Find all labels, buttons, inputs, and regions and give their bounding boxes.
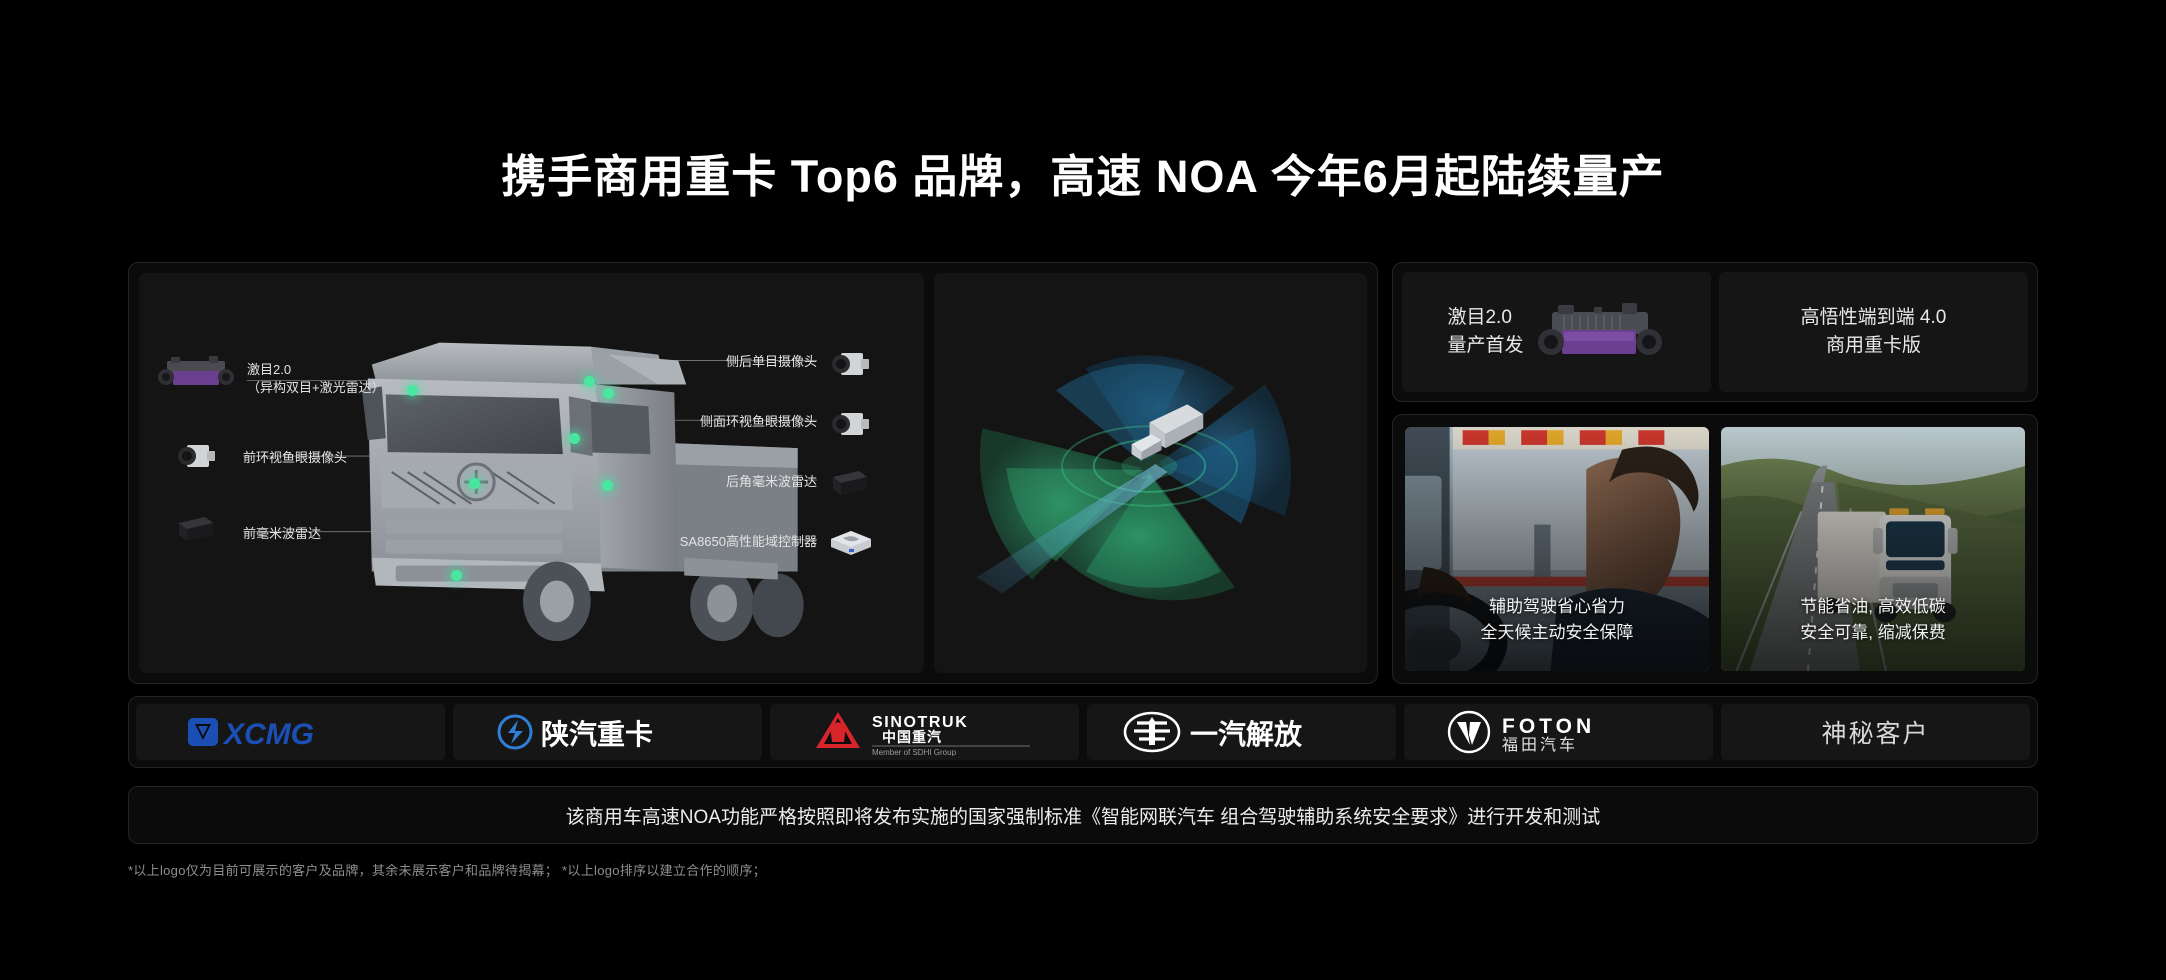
svg-text:福田汽车: 福田汽车: [1502, 736, 1578, 754]
logo-cell-mystery-customer[interactable]: 神秘客户: [1721, 704, 2030, 760]
xcmg-logo: XCMG: [186, 712, 396, 752]
product-card-lidar-text: 激目2.0 量产首发: [1447, 304, 1523, 359]
sensor-dot-side-fisheye: [569, 433, 580, 444]
truck-sensor-diagram: 激目2.0 （异构双目+激光雷达） 前环视鱼眼摄像头: [139, 273, 924, 673]
label-domain-controller: SA8650高性能域控制器: [597, 533, 817, 551]
partner-logo-row: XCMG 陕汽重卡 SINOTRUK 中国重汽 Member of SDHI G…: [128, 696, 2038, 768]
label-front-radar: 前毫米波雷达: [243, 525, 321, 543]
compliance-statement: 该商用车高速NOA功能严格按照即将发布实施的国家强制标准《智能网联汽车 组合驾驶…: [128, 786, 2038, 844]
sensor-dot-side-mono: [584, 376, 595, 387]
logo-cell-foton[interactable]: FOTON 福田汽车: [1404, 704, 1713, 760]
sinotruk-logo: SINOTRUK 中国重汽 Member of SDHI Group: [800, 708, 1050, 756]
photo-caption-highway: 节能省油, 高效低碳 安全可靠, 缩减保费: [1721, 594, 2025, 645]
photo-card-driver[interactable]: 辅助驾驶省心省力 全天候主动安全保障: [1405, 427, 1709, 671]
logo-footnote: *以上logo仅为目前可展示的客户及品牌，其余未展示客户和品牌待揭幕； *以上l…: [128, 860, 2038, 879]
label-rear-corner-radar: 后角毫米波雷达: [637, 473, 817, 491]
label-lidar-module: 激目2.0 （异构双目+激光雷达）: [247, 361, 385, 396]
svg-text:XCMG: XCMG: [222, 718, 314, 751]
sensor-dot-front-fisheye: [469, 478, 480, 489]
faw-logo: 一汽解放: [1122, 711, 1362, 753]
product-card-e2e-text: 高悟性端到端 4.0 商用重卡版: [1801, 304, 1947, 359]
lidar-camera-module-icon: [157, 355, 235, 389]
logo-cell-xcmg[interactable]: XCMG: [136, 704, 445, 760]
photo-card-highway[interactable]: 节能省油, 高效低碳 安全可靠, 缩减保费: [1721, 427, 2025, 671]
sensor-dot-rear-radar: [602, 480, 613, 491]
svg-text:Member of SDHI Group: Member of SDHI Group: [872, 748, 957, 756]
sensor-dot-windshield: [407, 385, 418, 396]
sensor-coverage-visualization: [934, 273, 1367, 673]
label-side-rear-mono: 侧后单目摄像头: [637, 353, 817, 371]
fisheye-camera-icon: [829, 409, 871, 439]
mono-camera-icon: [829, 349, 871, 379]
sensor-dot-front-radar: [451, 570, 462, 581]
logo-cell-shacman[interactable]: 陕汽重卡: [453, 704, 762, 760]
logo-cell-sinotruk[interactable]: SINOTRUK 中国重汽 Member of SDHI Group: [770, 704, 1079, 760]
main-content-row: 激目2.0 （异构双目+激光雷达） 前环视鱼眼摄像头: [128, 262, 2038, 684]
svg-text:一汽解放: 一汽解放: [1190, 718, 1303, 750]
radar-module-icon: [173, 513, 217, 545]
shacman-logo: 陕汽重卡: [493, 712, 723, 752]
svg-text:中国重汽: 中国重汽: [882, 729, 942, 745]
page-title: 携手商用重卡 Top6 品牌，高速 NOA 今年6月起陆续量产: [0, 140, 2166, 205]
mystery-customer-label: 神秘客户: [1821, 714, 1929, 750]
label-front-fisheye: 前环视鱼眼摄像头: [243, 449, 347, 467]
product-card-e2e[interactable]: 高悟性端到端 4.0 商用重卡版: [1719, 272, 2028, 392]
svg-text:FOTON: FOTON: [1502, 715, 1595, 738]
product-card-lidar[interactable]: 激目2.0 量产首发: [1402, 272, 1711, 392]
sensor-layout-panel: 激目2.0 （异构双目+激光雷达） 前环视鱼眼摄像头: [128, 262, 1378, 684]
product-cards-panel: 激目2.0 量产首发: [1392, 262, 2038, 402]
lidar-camera-module-image: [1534, 302, 1666, 362]
label-side-fisheye: 侧面环视鱼眼摄像头: [617, 413, 817, 431]
photo-cards-panel: 辅助驾驶省心省力 全天候主动安全保障: [1392, 414, 2038, 684]
slide-root: 携手商用重卡 Top6 品牌，高速 NOA 今年6月起陆续量产: [0, 0, 2166, 980]
photo-caption-driver: 辅助驾驶省心省力 全天候主动安全保障: [1405, 594, 1709, 645]
sensor-dot-side-rear: [603, 388, 614, 399]
domain-controller-icon: [827, 525, 875, 557]
coverage-fan-graphic: [934, 273, 1367, 673]
logo-cell-faw[interactable]: 一汽解放: [1087, 704, 1396, 760]
foton-logo: FOTON 福田汽车: [1444, 709, 1674, 755]
radar-module-icon: [827, 467, 871, 499]
right-column: 激目2.0 量产首发: [1392, 262, 2038, 684]
svg-text:陕汽重卡: 陕汽重卡: [541, 719, 653, 750]
fisheye-camera-icon: [175, 441, 217, 471]
